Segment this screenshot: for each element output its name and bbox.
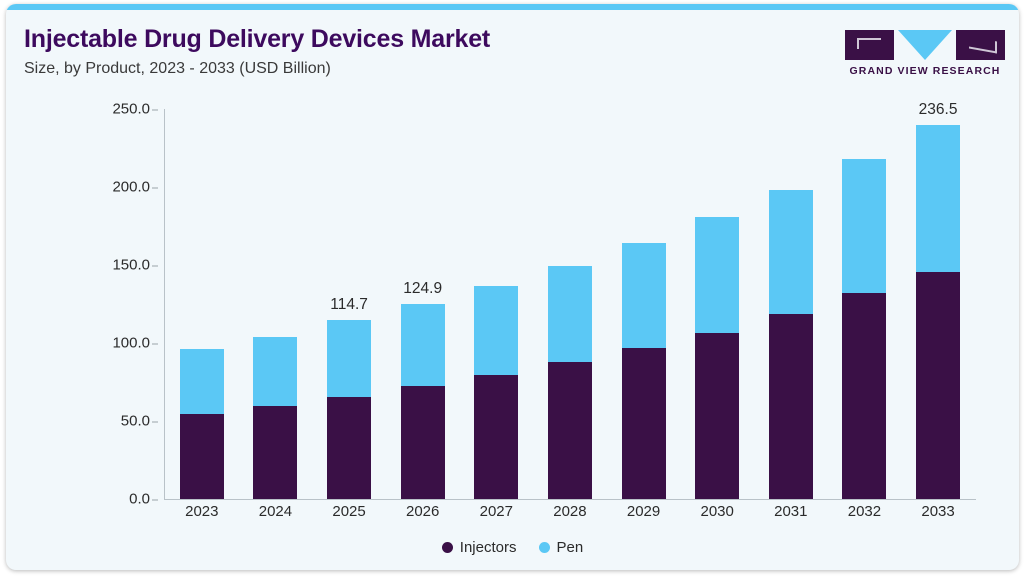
bar-group[interactable] xyxy=(253,99,297,499)
stacked-bar[interactable] xyxy=(695,217,739,499)
bar-group[interactable]: 114.7 xyxy=(327,99,371,499)
bar-group[interactable] xyxy=(180,99,224,499)
grand-view-research-logo: GRAND VIEW RESEARCH xyxy=(845,30,1005,77)
bar-segment-pen[interactable] xyxy=(253,337,297,406)
stacked-bar[interactable] xyxy=(180,349,224,499)
stacked-bar[interactable] xyxy=(622,243,666,499)
bar-segment-pen[interactable] xyxy=(769,190,813,313)
y-axis-tick-label: 0.0 xyxy=(129,491,150,508)
logo-left-block-icon xyxy=(845,30,894,60)
bar-segment-pen[interactable] xyxy=(842,159,886,293)
legend-color-swatch xyxy=(442,542,453,553)
stacked-bar[interactable] xyxy=(769,190,813,499)
stacked-bar[interactable] xyxy=(401,304,445,499)
logo-right-block-icon xyxy=(956,30,1005,60)
x-axis-tick-label: 2028 xyxy=(548,503,592,520)
y-axis-tick-mark xyxy=(152,265,158,266)
bar-segment-pen[interactable] xyxy=(327,320,371,396)
bar-segment-pen[interactable] xyxy=(548,266,592,362)
chart-card: Injectable Drug Delivery Devices Market … xyxy=(6,4,1019,570)
bar-group[interactable]: 236.5 xyxy=(916,99,960,499)
x-axis-tick-label: 2033 xyxy=(916,503,960,520)
bar-value-label: 124.9 xyxy=(403,280,442,298)
y-axis-ticks: 0.050.0100.0150.0200.0250.0 xyxy=(94,99,160,499)
stacked-bar[interactable] xyxy=(474,286,518,499)
bar-segment-injectors[interactable] xyxy=(548,362,592,499)
bar-segment-pen[interactable] xyxy=(916,125,960,271)
bar-segment-pen[interactable] xyxy=(180,349,224,414)
y-axis-tick-mark xyxy=(152,187,158,188)
top-accent-bar xyxy=(6,4,1019,10)
stacked-bar[interactable] xyxy=(548,266,592,499)
x-axis-tick-label: 2032 xyxy=(842,503,886,520)
x-axis-tick-label: 2026 xyxy=(401,503,445,520)
bar-group[interactable] xyxy=(769,99,813,499)
bar-group[interactable] xyxy=(548,99,592,499)
x-axis-ticks: 2023202420252026202720282029203020312032… xyxy=(165,503,975,520)
bar-segment-injectors[interactable] xyxy=(180,414,224,499)
x-axis-tick-label: 2027 xyxy=(474,503,518,520)
bar-series-container: 114.7124.9236.5 xyxy=(165,99,975,499)
bar-segment-pen[interactable] xyxy=(695,217,739,333)
bar-group[interactable]: 124.9 xyxy=(401,99,445,499)
x-axis-tick-label: 2024 xyxy=(253,503,297,520)
bar-segment-injectors[interactable] xyxy=(622,348,666,499)
bar-segment-injectors[interactable] xyxy=(769,314,813,499)
bar-segment-injectors[interactable] xyxy=(253,406,297,499)
y-axis-tick-label: 200.0 xyxy=(112,179,150,196)
bar-group[interactable] xyxy=(474,99,518,499)
y-axis-tick-label: 150.0 xyxy=(112,257,150,274)
stacked-bar[interactable] xyxy=(327,320,371,499)
bar-segment-injectors[interactable] xyxy=(695,333,739,499)
x-axis-tick-label: 2023 xyxy=(180,503,224,520)
legend-color-swatch xyxy=(539,542,550,553)
bar-value-label: 236.5 xyxy=(919,101,958,119)
x-axis-line xyxy=(164,499,976,500)
y-axis-tick-label: 100.0 xyxy=(112,335,150,352)
bar-group[interactable] xyxy=(695,99,739,499)
legend-label: Pen xyxy=(557,539,584,556)
y-axis-tick-mark xyxy=(152,343,158,344)
legend-label: Injectors xyxy=(460,539,517,556)
y-axis-tick-label: 250.0 xyxy=(112,101,150,118)
y-axis-tick-mark xyxy=(152,499,158,500)
x-axis-tick-label: 2025 xyxy=(327,503,371,520)
x-axis-tick-label: 2030 xyxy=(695,503,739,520)
bar-group[interactable] xyxy=(622,99,666,499)
y-axis-tick-label: 50.0 xyxy=(121,413,150,430)
stacked-bar[interactable] xyxy=(253,337,297,499)
bar-group[interactable] xyxy=(842,99,886,499)
logo-wordmark: GRAND VIEW RESEARCH xyxy=(845,65,1005,77)
x-axis-tick-label: 2031 xyxy=(769,503,813,520)
legend-item-injectors[interactable]: Injectors xyxy=(442,539,517,556)
chart-subtitle: Size, by Product, 2023 - 2033 (USD Billi… xyxy=(24,60,824,78)
bar-segment-injectors[interactable] xyxy=(401,386,445,499)
stacked-bar[interactable] xyxy=(916,125,960,499)
y-axis-tick-mark xyxy=(152,109,158,110)
chart-legend: InjectorsPen xyxy=(6,539,1019,556)
bar-segment-pen[interactable] xyxy=(401,304,445,386)
y-axis-tick-mark xyxy=(152,421,158,422)
bar-segment-injectors[interactable] xyxy=(842,293,886,499)
x-axis-tick-label: 2029 xyxy=(622,503,666,520)
chart-header: Injectable Drug Delivery Devices Market … xyxy=(24,26,824,78)
bar-segment-injectors[interactable] xyxy=(474,375,518,499)
page-title: Injectable Drug Delivery Devices Market xyxy=(24,26,824,54)
bar-segment-pen[interactable] xyxy=(622,243,666,348)
bar-value-label: 114.7 xyxy=(330,296,368,314)
chart-plot-area: Market Size (USD Billion) 0.050.0100.015… xyxy=(6,99,1019,569)
bar-segment-pen[interactable] xyxy=(474,286,518,375)
stacked-bar[interactable] xyxy=(842,159,886,499)
logo-marks xyxy=(845,30,1005,60)
legend-item-pen[interactable]: Pen xyxy=(539,539,584,556)
logo-triangle-icon xyxy=(898,30,952,60)
bar-segment-injectors[interactable] xyxy=(916,272,960,499)
bar-segment-injectors[interactable] xyxy=(327,397,371,499)
